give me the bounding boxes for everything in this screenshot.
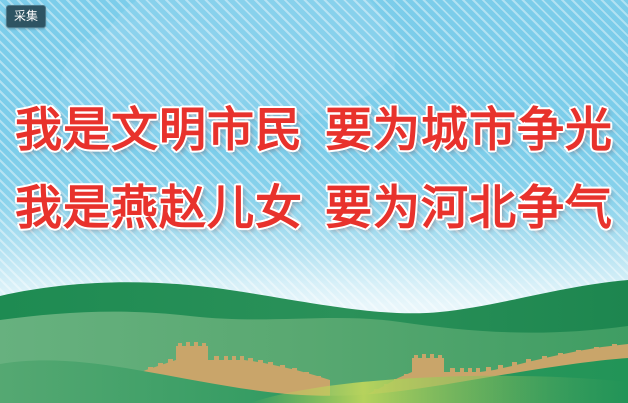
slogan-line-2: 我是燕赵儿女要为河北争气 (0, 170, 628, 248)
slogan-line-1-left: 我是文明市民 (15, 103, 303, 158)
hills-landscape (0, 268, 628, 403)
slogan-line-1-right: 要为城市争光 (325, 103, 613, 158)
capture-button[interactable]: 采集 (6, 5, 46, 28)
slogan-line-2-right: 要为河北争气 (325, 181, 613, 236)
slogan-line-2-left: 我是燕赵儿女 (15, 181, 303, 236)
slogan-block: 我是文明市民要为城市争光 我是燕赵儿女要为河北争气 (0, 92, 628, 248)
slogan-line-1: 我是文明市民要为城市争光 (0, 92, 628, 170)
propaganda-banner-image: 我是文明市民要为城市争光 我是燕赵儿女要为河北争气 采集 (0, 0, 628, 403)
